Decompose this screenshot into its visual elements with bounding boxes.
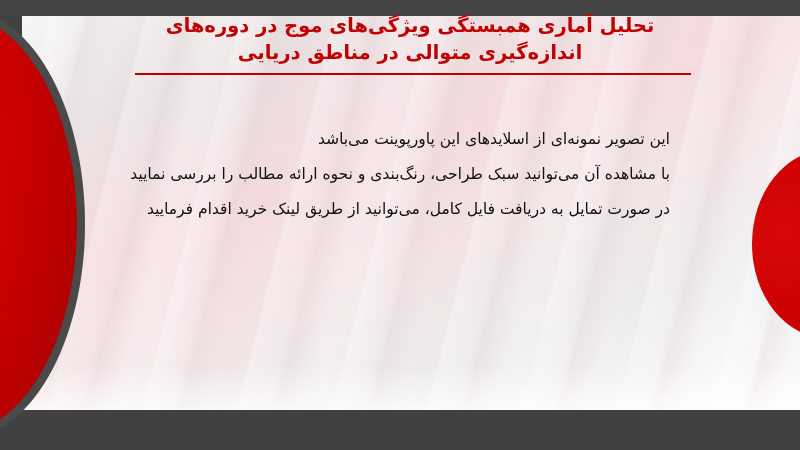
slide-title-line-2: اندازه‌گیری متوالی در مناطق دریایی [120,39,700,66]
slide-body-text: این تصویر نمونه‌ای از اسلایدهای این پاور… [110,122,670,227]
slide-title: تحلیل آماری همبستگی ویژگی‌های موج در دور… [120,12,700,66]
body-text-line-3: در صورت تمایل به دریافت فایل کامل، می‌تو… [110,192,670,227]
slide-title-line-1: تحلیل آماری همبستگی ویژگی‌های موج در دور… [120,12,700,39]
body-text-line-2: با مشاهده آن می‌توانید سبک طراحی، رنگ‌بن… [110,157,670,192]
presentation-slide: تحلیل آماری همبستگی ویژگی‌های موج در دور… [0,0,800,450]
slide-bottom-frame-band [0,410,800,450]
body-text-line-1: این تصویر نمونه‌ای از اسلایدهای این پاور… [110,122,670,157]
title-divider-rule [135,73,691,75]
